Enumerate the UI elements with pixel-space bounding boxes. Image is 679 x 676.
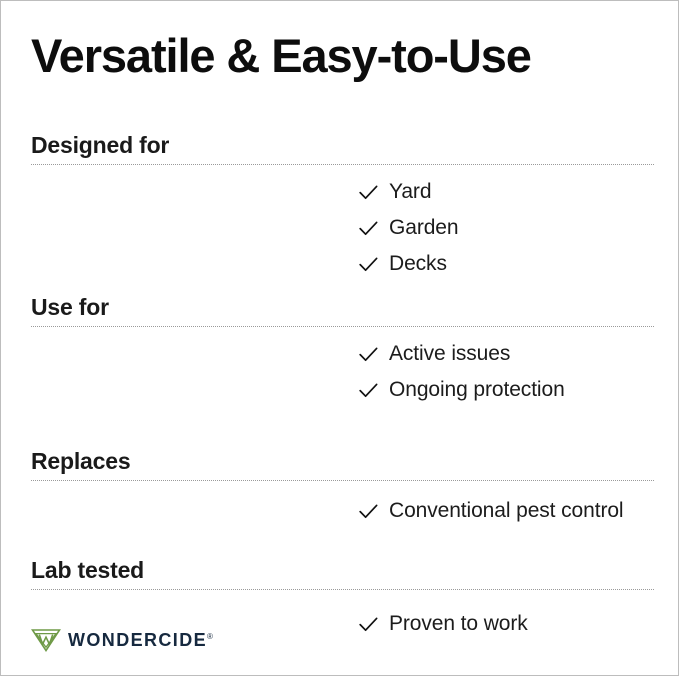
check-icon [359, 372, 389, 398]
product-feature-card: Versatile & Easy-to-Use Designed forYard… [0, 0, 679, 676]
list-item: Garden [359, 210, 656, 245]
check-icon [359, 606, 389, 632]
check-icon [359, 246, 389, 272]
check-icon [359, 174, 389, 200]
section-header: Lab tested [31, 559, 656, 589]
list-item-label: Ongoing protection [389, 372, 624, 407]
feature-section: Designed forYardGardenDecks [31, 134, 656, 288]
list-item-label: Garden [389, 210, 624, 245]
list-item: Active issues [359, 336, 656, 371]
list-item: Yard [359, 174, 656, 209]
brand-logo: WONDERCIDE® [31, 628, 213, 652]
section-header: Use for [31, 296, 656, 326]
check-icon [359, 336, 389, 362]
feature-section: Use forActive issuesOngoing protection [31, 296, 656, 450]
wordmark: WONDERCIDE® [68, 631, 213, 649]
feature-section: ReplacesConventional pest control [31, 450, 656, 559]
page-title: Versatile & Easy-to-Use [31, 32, 531, 79]
list-item-label: Decks [389, 246, 624, 281]
check-icon [359, 493, 389, 519]
list-item: Conventional pest control [359, 493, 656, 528]
list-item: Proven to work [359, 606, 656, 641]
section-header: Designed for [31, 134, 656, 164]
section-item-list: YardGardenDecks [31, 165, 656, 288]
list-item: Decks [359, 246, 656, 281]
trademark-symbol: ® [207, 632, 213, 641]
section-header: Replaces [31, 450, 656, 480]
wordmark-text: WONDERCIDE [68, 630, 207, 650]
list-item-label: Yard [389, 174, 624, 209]
wondercide-triangle-w-mark [31, 628, 61, 652]
section-item-list: Active issuesOngoing protection [31, 327, 656, 450]
section-item-list: Conventional pest control [31, 481, 656, 559]
list-item: Ongoing protection [359, 372, 656, 407]
list-item-label: Conventional pest control [389, 493, 624, 528]
list-item-label: Active issues [389, 336, 624, 371]
feature-sections: Designed forYardGardenDecksUse forActive… [31, 134, 656, 642]
check-icon [359, 210, 389, 236]
list-item-label: Proven to work [389, 606, 624, 641]
